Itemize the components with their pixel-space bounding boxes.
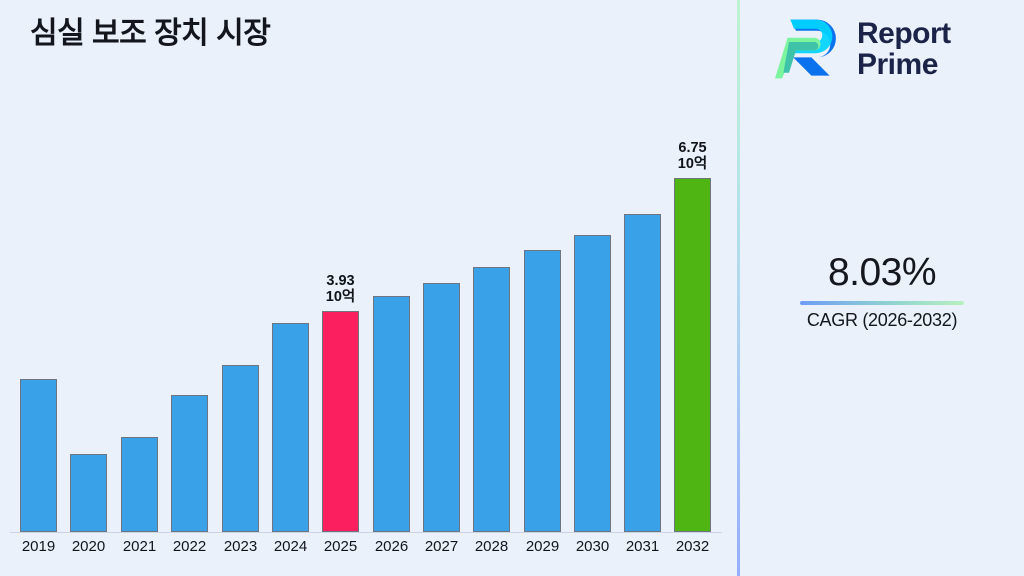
bar-2019	[20, 379, 57, 532]
cagr-caption: CAGR (2026-2032)	[740, 310, 1024, 331]
brand-name: Report Prime	[857, 18, 951, 81]
bar-2022	[171, 395, 208, 532]
bar-2021	[121, 437, 158, 532]
bar-data-label-2032: 6.7510억	[653, 140, 733, 172]
bar-2024	[272, 323, 309, 532]
chart-screenshot: 심실 보조 장치 시장 2019202020212022202320242025…	[0, 0, 1024, 576]
bar-2027	[423, 283, 460, 532]
brand-name-line1: Report	[857, 18, 951, 50]
x-tick-2032: 2032	[663, 538, 723, 555]
x-axis-line	[10, 532, 722, 533]
bar-2029	[524, 250, 561, 532]
cagr-value: 8.03%	[740, 252, 1024, 295]
bar-2020	[70, 454, 107, 532]
cagr-block: 8.03% CAGR (2026-2032)	[740, 252, 1024, 331]
bar-value-2025: 3.93	[301, 273, 381, 289]
bar-2025	[322, 311, 359, 532]
bar-unit-2025: 10억	[301, 289, 381, 305]
chart-panel: 심실 보조 장치 시장 2019202020212022202320242025…	[0, 0, 737, 576]
bar-2023	[222, 365, 259, 532]
brand-name-line2: Prime	[857, 49, 951, 81]
bar-unit-2032: 10억	[653, 156, 733, 172]
bar-data-label-2025: 3.9310억	[301, 273, 381, 305]
brand-logo: Report Prime	[775, 14, 951, 84]
bar-2032	[674, 178, 711, 532]
bar-2026	[373, 296, 410, 532]
bar-chart-plot-area: 20192020202120222023202420253.9310억20262…	[0, 0, 737, 533]
bar-2028	[473, 267, 510, 532]
bar-2031	[624, 214, 661, 532]
side-panel: Report Prime 8.03% CAGR (2026-2032)	[740, 0, 1024, 576]
bar-value-2032: 6.75	[653, 140, 733, 156]
bar-2030	[574, 235, 611, 532]
cagr-divider-rule	[800, 301, 964, 305]
report-prime-logo-icon	[775, 14, 845, 84]
